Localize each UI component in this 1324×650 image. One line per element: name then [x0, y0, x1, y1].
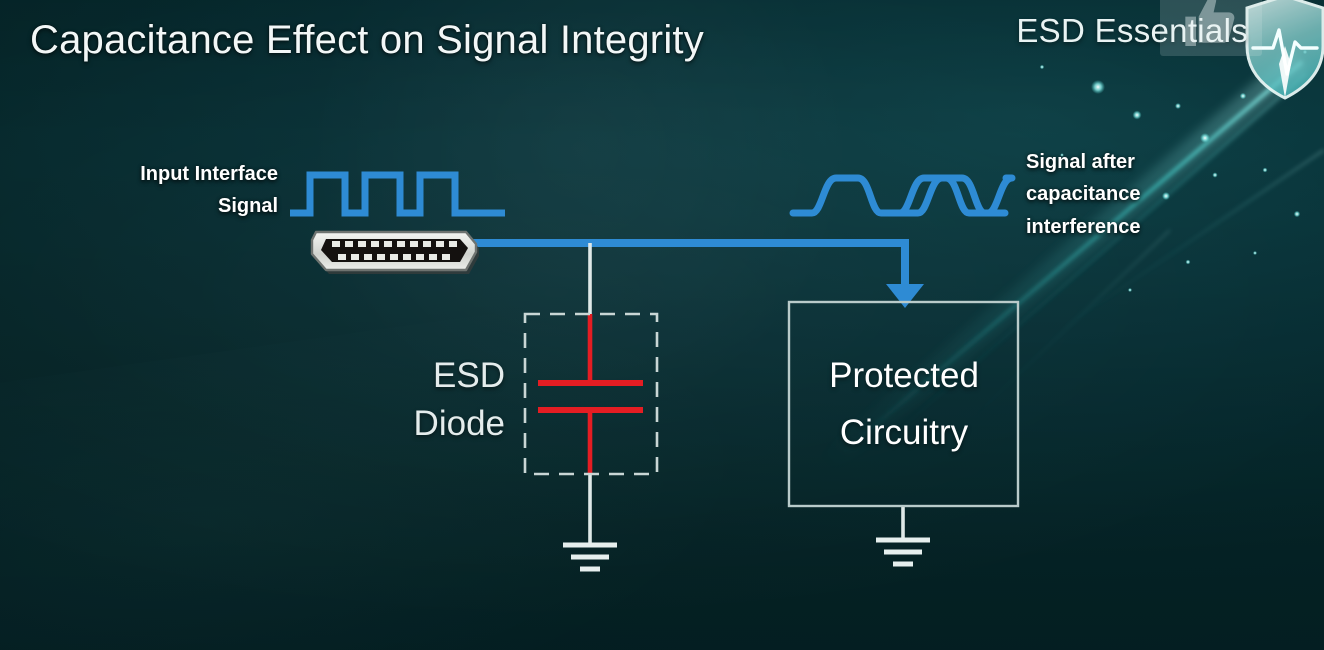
- protected-circuitry-label: Protected Circuitry: [789, 348, 1019, 461]
- page-title: Capacitance Effect on Signal Integrity: [30, 18, 704, 63]
- esd-diode-label: ESD Diode: [330, 352, 505, 447]
- output-signal-label: Signal after capacitance interference: [1026, 146, 1296, 243]
- hdmi-connector-icon: [312, 232, 479, 274]
- input-signal-label: Input Interface Signal: [28, 158, 278, 223]
- thumbs-up-icon: [1180, 0, 1244, 54]
- slide-canvas: Capacitance Effect on Signal Integrity E…: [0, 0, 1324, 650]
- ground-symbol-icon-right: [876, 540, 930, 564]
- output-signal-waveform: [793, 178, 1012, 213]
- thumbs-up-watermark: [1160, 0, 1262, 56]
- ground-symbol-icon-left: [563, 545, 617, 569]
- diagram-artwork: [0, 0, 1324, 650]
- down-arrow-icon: [886, 284, 924, 308]
- capacitor-symbol-icon: [538, 383, 643, 410]
- input-signal-waveform: [290, 175, 505, 213]
